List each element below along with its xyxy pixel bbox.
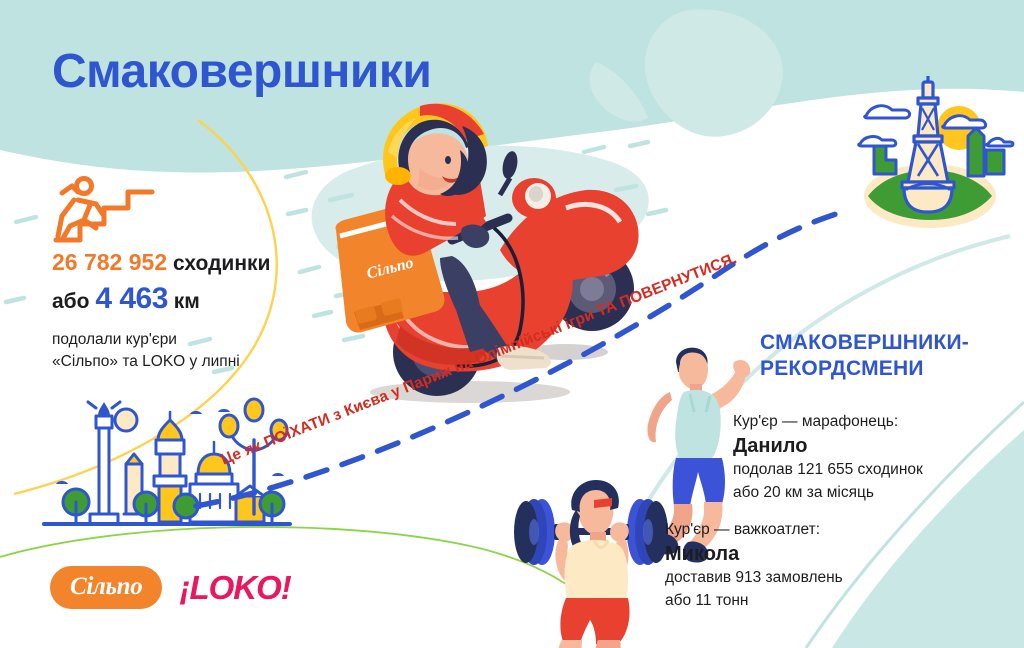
barbell-plate-right <box>627 499 668 565</box>
record-lifter-name: Микола <box>665 542 843 567</box>
record-item-weightlifter: Кур'єр — важкоатлет: Микола доставив 913… <box>665 518 843 612</box>
silpo-logo-text: Сільпо <box>70 574 142 599</box>
infographic-canvas: Смаковершники 26 782 952 сходинки або 4 … <box>0 0 1024 648</box>
lifter-leg-right <box>595 640 621 648</box>
logo-row: Сільпо ¡LOKO! <box>50 566 291 609</box>
record-lifter-detail-2: або 11 тонн <box>665 590 843 612</box>
lifter-leg-left <box>557 640 582 648</box>
record-lifter-role: Кур'єр — важкоатлет: <box>665 518 843 541</box>
barbell-plate-left <box>514 499 555 565</box>
silpo-logo[interactable]: Сільпо <box>50 566 162 609</box>
loko-logo[interactable]: ¡LOKO! <box>179 571 290 604</box>
lifter-shirt <box>565 540 628 602</box>
record-lifter-detail-1: доставив 913 замовлень <box>665 567 843 589</box>
lifter-shorts <box>560 598 629 644</box>
weightlifter-icon <box>0 0 1024 648</box>
